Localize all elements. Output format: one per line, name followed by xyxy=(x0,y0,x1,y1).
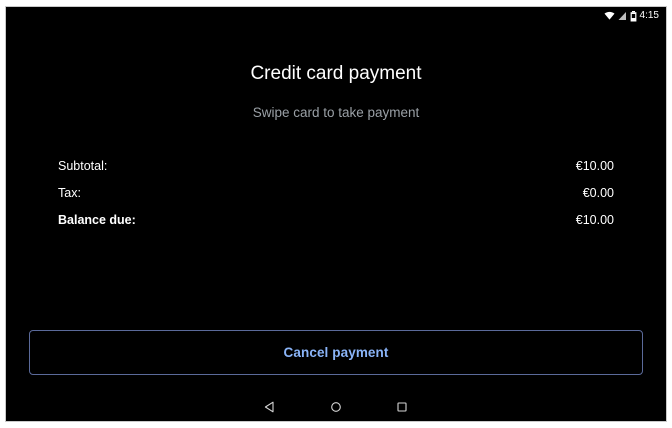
android-navigation-bar xyxy=(6,393,666,421)
wifi-icon xyxy=(604,11,615,21)
status-bar-clock: 4:15 xyxy=(640,11,659,21)
status-bar: 4:15 xyxy=(6,7,666,25)
nav-back-button[interactable] xyxy=(237,393,303,421)
total-label: Balance due: xyxy=(58,213,136,227)
page-subtitle: Swipe card to take payment xyxy=(6,105,666,121)
nav-home-button[interactable] xyxy=(303,393,369,421)
totals-list: Subtotal: €10.00 Tax: €0.00 Balance due:… xyxy=(58,159,614,240)
total-label: Tax: xyxy=(58,186,81,200)
total-value: €10.00 xyxy=(576,159,614,173)
total-row-subtotal: Subtotal: €10.00 xyxy=(58,159,614,186)
cancel-payment-label: Cancel payment xyxy=(284,345,389,361)
battery-icon xyxy=(630,11,637,22)
status-bar-icons xyxy=(604,11,637,22)
page-title: Credit card payment xyxy=(6,63,666,85)
payment-screen: Credit card payment Swipe card to take p… xyxy=(6,25,666,393)
total-row-tax: Tax: €0.00 xyxy=(58,186,614,213)
home-circle-icon xyxy=(330,401,342,413)
device-frame: 4:15 Credit card payment Swipe card to t… xyxy=(5,6,667,422)
signal-icon xyxy=(618,11,627,21)
total-value: €0.00 xyxy=(583,186,614,200)
back-triangle-icon xyxy=(264,401,276,413)
recents-square-icon xyxy=(396,401,408,413)
cancel-payment-button[interactable]: Cancel payment xyxy=(29,330,643,375)
total-value: €10.00 xyxy=(576,213,614,227)
nav-recents-button[interactable] xyxy=(369,393,435,421)
total-row-balance-due: Balance due: €10.00 xyxy=(58,213,614,240)
total-label: Subtotal: xyxy=(58,159,107,173)
